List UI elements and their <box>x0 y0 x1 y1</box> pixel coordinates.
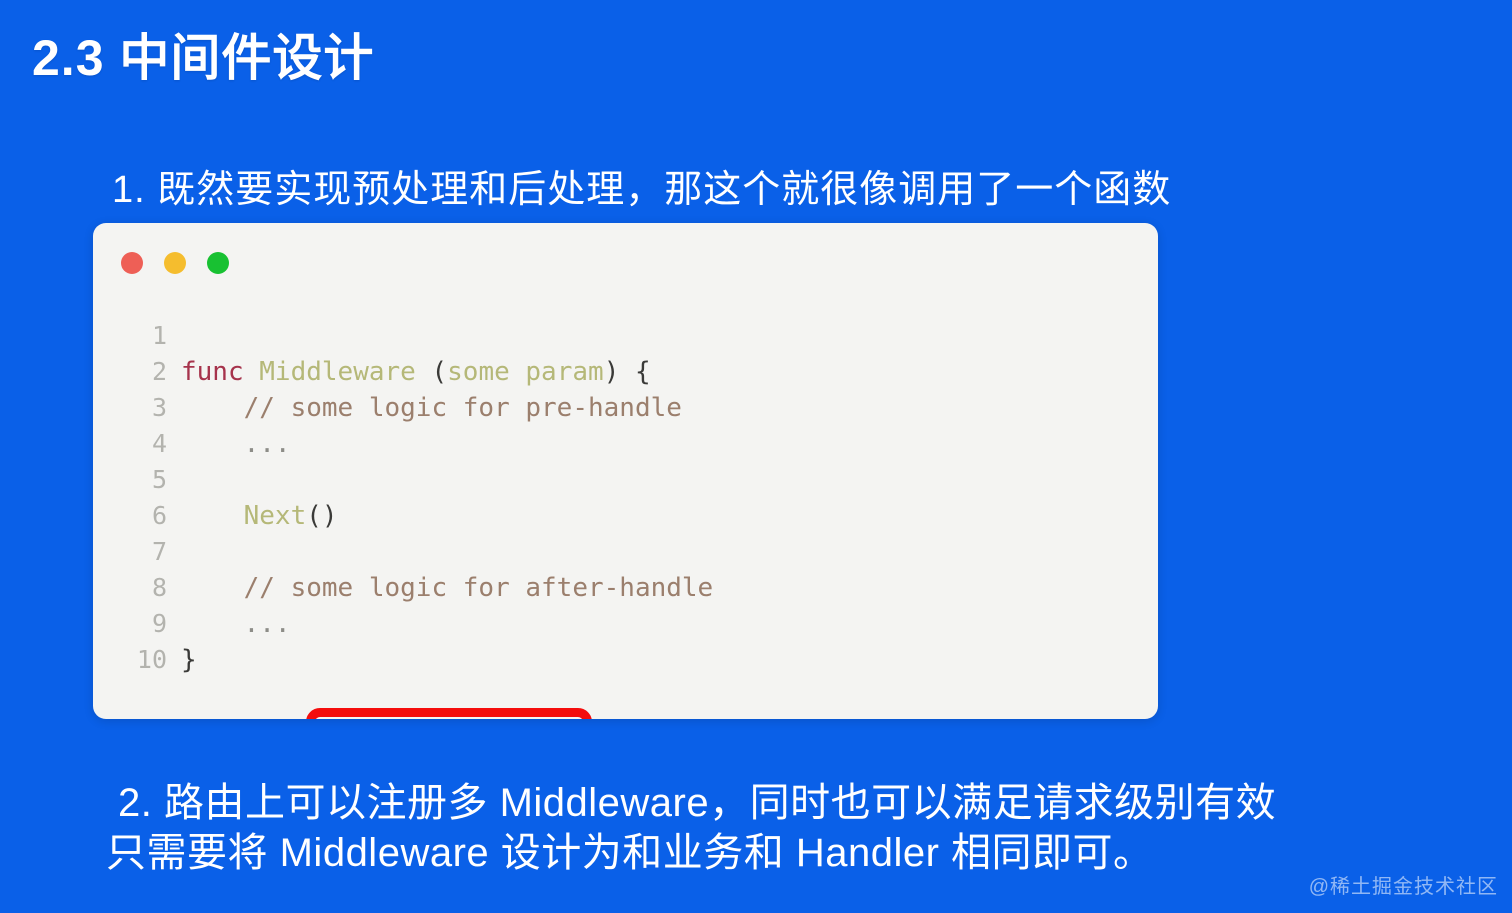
token-function-name: Middleware <box>259 357 416 387</box>
line-content: } <box>181 642 197 678</box>
code-line: 3 // some logic for pre-handle <box>93 390 1158 426</box>
token-keyword: func <box>181 357 244 387</box>
line-content: // some logic for pre-handle <box>181 390 682 426</box>
line-content: Next() <box>181 498 338 534</box>
token-next-call: Next <box>244 501 307 531</box>
slide-root: 2.3 中间件设计 1. 既然要实现预处理和后处理，那这个就很像调用了一个函数 … <box>0 0 1512 913</box>
maximize-icon[interactable] <box>207 252 229 274</box>
code-line: 9 ... <box>93 606 1158 642</box>
line-number: 10 <box>93 642 181 678</box>
code-line: 6 Next() <box>93 498 1158 534</box>
token-paren-close-brace: ) { <box>604 357 651 387</box>
line-number: 1 <box>93 318 181 354</box>
code-line: 4 ... <box>93 426 1158 462</box>
line-number: 3 <box>93 390 181 426</box>
code-line: 7 <box>93 534 1158 570</box>
line-number: 8 <box>93 570 181 606</box>
close-icon[interactable] <box>121 252 143 274</box>
code-line: 1 <box>93 318 1158 354</box>
line-content: ... <box>181 426 291 462</box>
code-line: 5 <box>93 462 1158 498</box>
line-number: 4 <box>93 426 181 462</box>
line-number: 6 <box>93 498 181 534</box>
line-number: 9 <box>93 606 181 642</box>
code-line: 10 } <box>93 642 1158 678</box>
line-content: // some logic for after-handle <box>181 570 713 606</box>
token-space <box>244 357 260 387</box>
bullet-item-1: 1. 既然要实现预处理和后处理，那这个就很像调用了一个函数 <box>112 158 1171 213</box>
code-line: 2 func Middleware (some param) { <box>93 354 1158 390</box>
line-number: 7 <box>93 534 181 570</box>
minimize-icon[interactable] <box>164 252 186 274</box>
code-line: 8 // some logic for after-handle <box>93 570 1158 606</box>
bullet-item-2-line-1: 2. 路由上可以注册多 Middleware，同时也可以满足请求级别有效 <box>118 778 1512 828</box>
bullet-item-2: 2. 路由上可以注册多 Middleware，同时也可以满足请求级别有效 只需要… <box>118 778 1512 878</box>
line-content: ... <box>181 606 291 642</box>
token-indent <box>181 501 244 531</box>
next-call-highlight-box <box>306 708 592 719</box>
watermark: @稀土掘金技术社区 <box>1309 870 1498 899</box>
token-parens: () <box>306 501 337 531</box>
line-number: 2 <box>93 354 181 390</box>
token-params: some param <box>447 357 604 387</box>
bullet-item-2-line-2: 只需要将 Middleware 设计为和业务和 Handler 相同即可。 <box>106 828 1512 878</box>
line-content: func Middleware (some param) { <box>181 354 651 390</box>
token-paren-open: ( <box>416 357 447 387</box>
line-number: 5 <box>93 462 181 498</box>
code-window: 1 2 func Middleware (some param) { 3 // … <box>93 223 1158 719</box>
code-block: 1 2 func Middleware (some param) { 3 // … <box>93 318 1158 678</box>
page-title: 2.3 中间件设计 <box>32 18 374 90</box>
window-controls <box>121 252 229 274</box>
